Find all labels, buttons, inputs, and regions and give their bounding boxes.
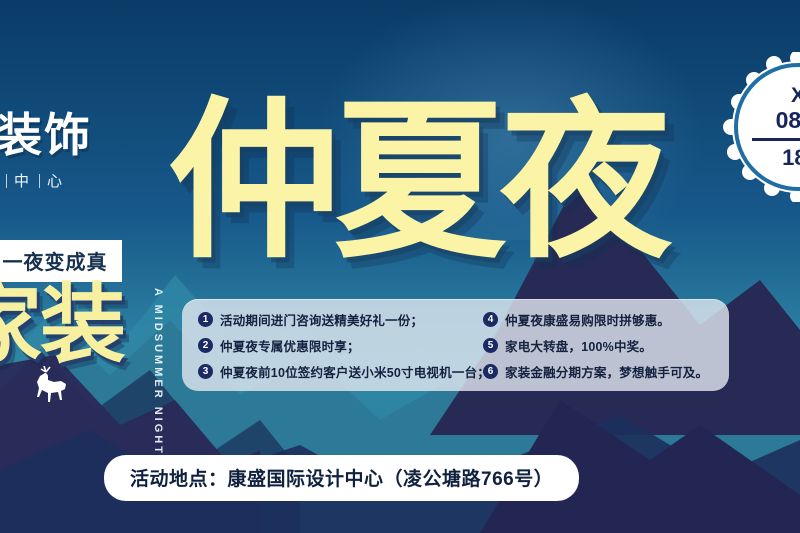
offer-item: 5 家电大转盘，100%中奖。	[483, 336, 713, 355]
offer-text: 仲夏夜康盛易购限时拼够惠。	[505, 310, 670, 329]
english-subtitle-vertical: A MIDSUMMER NIGHT	[152, 288, 164, 456]
offer-number: 5	[483, 338, 498, 353]
promo-poster: X 08/2 18: 盛装饰 設 計 中 心 装梦 一夜变成真 家装 仲夏夜 A…	[0, 0, 800, 533]
offer-text: 家装金融分期方案，梦想触手可及。	[505, 362, 708, 381]
offer-text: 家电大转盘，100%中奖。	[505, 336, 652, 355]
badge-time: 18:	[782, 145, 800, 170]
offer-number: 1	[198, 312, 213, 327]
offer-text: 活动期间进门咨询送精美好礼一份；	[220, 310, 423, 329]
offers-panel: 1 活动期间进门咨询送精美好礼一份； 2 仲夏夜专属优惠限时享； 3 仲夏夜前1…	[182, 299, 729, 391]
brand-tagline-text: 装梦 一夜变成真	[0, 252, 108, 274]
offer-number: 4	[483, 312, 498, 327]
offer-number: 2	[198, 338, 213, 353]
brand-subtitle: 設 計 中 心	[0, 170, 188, 191]
location-text: 活动地点：康盛国际设计中心（凌公塘路766号）	[130, 469, 553, 490]
offer-number: 6	[483, 364, 498, 379]
badge-content: X 08/2 18:	[734, 63, 800, 191]
offer-item: 4 仲夏夜康盛易购限时拼够惠。	[483, 310, 713, 329]
offer-item: 3 仲夏夜前10位签约客户送小米50寸电视机一台；	[198, 362, 483, 381]
brand-logo: 盛装饰 設 計 中 心	[0, 112, 188, 191]
event-date-badge: X 08/2 18:	[723, 52, 800, 202]
brand-name: 盛装饰	[0, 112, 188, 158]
offers-column-left: 1 活动期间进门咨询送精美好礼一份； 2 仲夏夜专属优惠限时享； 3 仲夏夜前1…	[198, 310, 483, 391]
main-headline: 仲夏夜	[168, 96, 666, 268]
divider-icon	[39, 174, 40, 188]
offer-item: 6 家装金融分期方案，梦想触手可及。	[483, 362, 713, 381]
badge-date: 08/2	[776, 107, 800, 133]
offer-text: 仲夏夜前10位签约客户送小米50寸电视机一台；	[220, 362, 490, 381]
deer-icon	[24, 366, 80, 418]
badge-top-symbol: X	[791, 84, 800, 107]
divider-icon	[6, 174, 7, 188]
badge-divider	[752, 138, 800, 141]
offer-number: 3	[198, 364, 213, 379]
offer-item: 2 仲夏夜专属优惠限时享；	[198, 336, 483, 355]
offer-item: 1 活动期间进门咨询送精美好礼一份；	[198, 310, 483, 329]
location-pill: 活动地点：康盛国际设计中心（凌公塘路766号）	[104, 455, 579, 501]
brand-subtitle-char-2: 中	[14, 170, 32, 191]
offer-text: 仲夏夜专属优惠限时享；	[220, 336, 360, 355]
brand-subtitle-char-3: 心	[47, 170, 65, 191]
category-headline: 家装	[0, 282, 124, 368]
brand-tagline: 装梦 一夜变成真	[0, 240, 122, 282]
offers-column-right: 4 仲夏夜康盛易购限时拼够惠。 5 家电大转盘，100%中奖。 6 家装金融分期…	[483, 310, 713, 391]
